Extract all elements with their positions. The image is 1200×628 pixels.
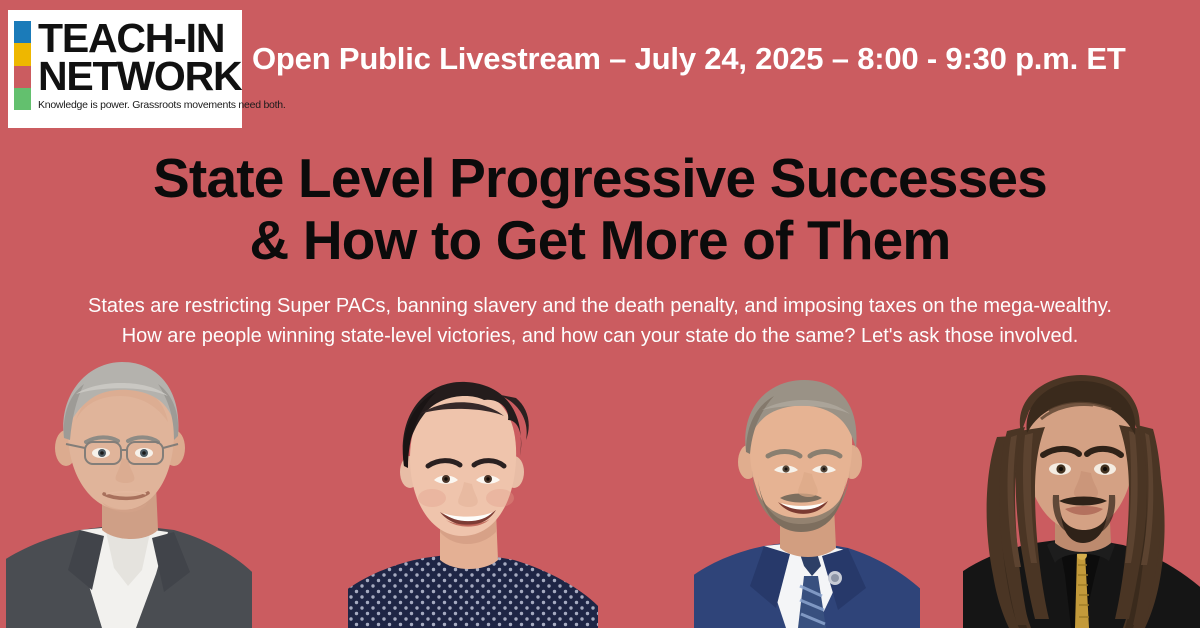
logo-line-one: TEACH-IN [38, 19, 286, 57]
event-promo-poster: TEACH-IN NETWORK Knowledge is power. Gra… [0, 0, 1200, 628]
speaker-portrait-1 [6, 360, 252, 628]
event-header-line: Open Public Livestream – July 24, 2025 –… [252, 41, 1172, 77]
logo-color-bars [14, 21, 31, 110]
logo-line-two: NETWORK [38, 57, 286, 95]
speaker-portrait-4-art [963, 375, 1200, 628]
title-line-two: & How to Get More of Them [0, 209, 1200, 271]
title-line-one: State Level Progressive Successes [0, 147, 1200, 209]
logo-tagline: Knowledge is power. Grassroots movements… [38, 99, 286, 111]
teach-in-network-logo: TEACH-IN NETWORK Knowledge is power. Gra… [8, 10, 242, 128]
speaker-portrait-4 [963, 375, 1200, 628]
logo-wordmark: TEACH-IN NETWORK Knowledge is power. Gra… [38, 19, 286, 122]
speaker-portrait-2-art [348, 374, 598, 628]
description-line-one: States are restricting Super PACs, banni… [0, 291, 1200, 321]
speaker-portrait-row [0, 360, 1200, 628]
logo-bar-red [14, 66, 31, 88]
speaker-portrait-2 [348, 374, 598, 628]
speaker-portrait-3-art [694, 380, 920, 628]
speaker-portrait-1-art [6, 360, 252, 628]
logo-bar-blue [14, 21, 31, 43]
logo-bar-yellow [14, 43, 31, 65]
page-title: State Level Progressive Successes & How … [0, 147, 1200, 271]
event-description: States are restricting Super PACs, banni… [0, 291, 1200, 351]
speaker-portrait-3 [694, 380, 920, 628]
logo-bar-green [14, 88, 31, 110]
description-line-two: How are people winning state-level victo… [0, 321, 1200, 351]
